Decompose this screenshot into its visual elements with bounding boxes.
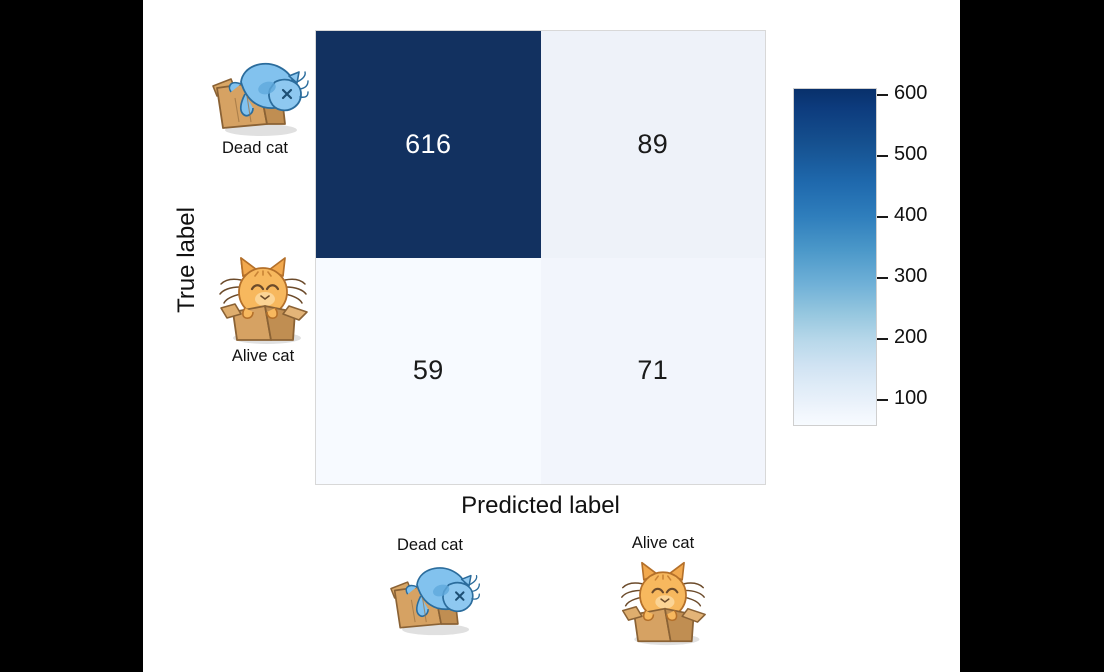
tick-dash-icon bbox=[877, 94, 888, 96]
plot-canvas: True label bbox=[143, 0, 960, 672]
matrix-cell-true-dead-pred-dead[interactable]: 616 bbox=[316, 31, 541, 258]
colorbar-tick-label: 200 bbox=[894, 326, 927, 349]
matrix-cell-true-alive-pred-alive[interactable]: 71 bbox=[541, 258, 766, 485]
tick-dash-icon bbox=[877, 216, 888, 218]
y-axis-title-text: True label bbox=[173, 207, 201, 313]
y-tick-label-dead: Dead cat bbox=[222, 139, 288, 158]
y-tick-alive-cat: Alive cat bbox=[198, 250, 328, 366]
colorbar[interactable] bbox=[793, 88, 877, 426]
matrix-cell-true-alive-pred-dead[interactable]: 59 bbox=[316, 258, 541, 485]
y-tick-dead-cat: Dead cat bbox=[190, 52, 320, 158]
tick-dash-icon bbox=[877, 155, 888, 157]
y-tick-label-alive: Alive cat bbox=[232, 347, 294, 366]
cell-value: 89 bbox=[637, 131, 668, 158]
x-tick-dead-cat: Dead cat bbox=[350, 536, 510, 637]
x-tick-label-dead: Dead cat bbox=[397, 536, 463, 555]
cell-value: 616 bbox=[405, 131, 451, 158]
colorbar-tick-label: 400 bbox=[894, 204, 927, 227]
matrix-cell-true-dead-pred-alive[interactable]: 89 bbox=[541, 31, 766, 258]
tick-dash-icon bbox=[877, 338, 888, 340]
figure-root: True label bbox=[0, 0, 1104, 672]
colorbar-tick-label: 300 bbox=[894, 265, 927, 288]
cell-value: 59 bbox=[413, 357, 444, 384]
alive-cat-in-box-icon bbox=[611, 555, 715, 647]
colorbar-tick-label: 500 bbox=[894, 143, 927, 166]
alive-cat-in-box-icon bbox=[211, 250, 315, 346]
confusion-matrix: 616 89 59 71 bbox=[315, 30, 766, 485]
x-axis-title: Predicted label bbox=[315, 492, 766, 520]
tick-dash-icon bbox=[877, 277, 888, 279]
cell-value: 71 bbox=[637, 357, 668, 384]
x-tick-label-alive: Alive cat bbox=[632, 534, 694, 553]
dead-cat-in-box-icon bbox=[201, 52, 309, 138]
colorbar-tick-label: 100 bbox=[894, 387, 927, 410]
tick-dash-icon bbox=[877, 399, 888, 401]
dead-cat-in-box-icon bbox=[376, 557, 484, 637]
x-tick-alive-cat: Alive cat bbox=[583, 534, 743, 647]
colorbar-ticks: 600 500 400 300 200 100 bbox=[877, 0, 957, 672]
colorbar-tick-label: 600 bbox=[894, 82, 927, 105]
